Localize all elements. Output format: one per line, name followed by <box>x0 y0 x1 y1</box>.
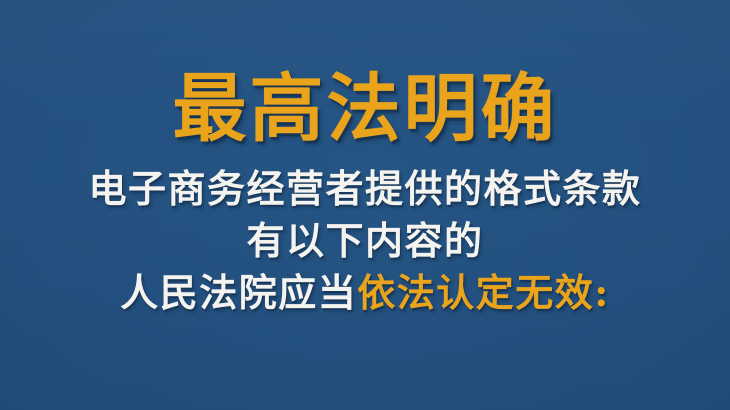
body-text-block: 电子商务经营者提供的格式条款 有以下内容的 人民法院应当 依法认定无效: <box>88 170 641 312</box>
poster-canvas: 最高法明确 电子商务经营者提供的格式条款 有以下内容的 人民法院应当 依法认定无… <box>0 0 730 410</box>
body-line-3-white-segment: 人民法院应当 <box>120 274 357 312</box>
body-line-2: 有以下内容的 <box>246 222 483 260</box>
body-line-1: 电子商务经营者提供的格式条款 <box>88 170 641 208</box>
headline-title: 最高法明确 <box>173 72 558 146</box>
poster-content: 最高法明确 电子商务经营者提供的格式条款 有以下内容的 人民法院应当 依法认定无… <box>0 0 730 410</box>
body-line-3-gold-segment: 依法认定无效: <box>357 274 610 312</box>
body-line-3: 人民法院应当 依法认定无效: <box>120 274 610 312</box>
